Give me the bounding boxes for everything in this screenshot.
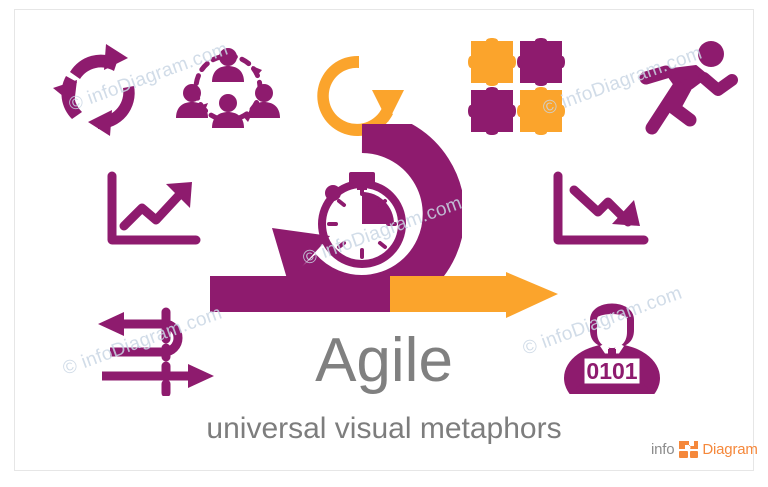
page-title: Agile <box>0 330 768 392</box>
infodiagram-logo: info Diagram <box>651 437 758 461</box>
cycle-arrows-icon <box>46 36 156 144</box>
chart-up-icon <box>104 170 202 250</box>
running-person-icon <box>634 36 742 140</box>
puzzle-pieces-icon <box>464 34 570 138</box>
logo-diagram-text: Diagram <box>702 441 757 458</box>
timeline-arrow-icon <box>210 272 560 324</box>
logo-puzzle-mark <box>678 440 699 459</box>
logo-info-text: info <box>651 441 674 458</box>
chart-down-icon <box>550 170 650 250</box>
slide-canvas: 0101 © infoDiagram.com © infoDiagram.com… <box>0 0 768 487</box>
